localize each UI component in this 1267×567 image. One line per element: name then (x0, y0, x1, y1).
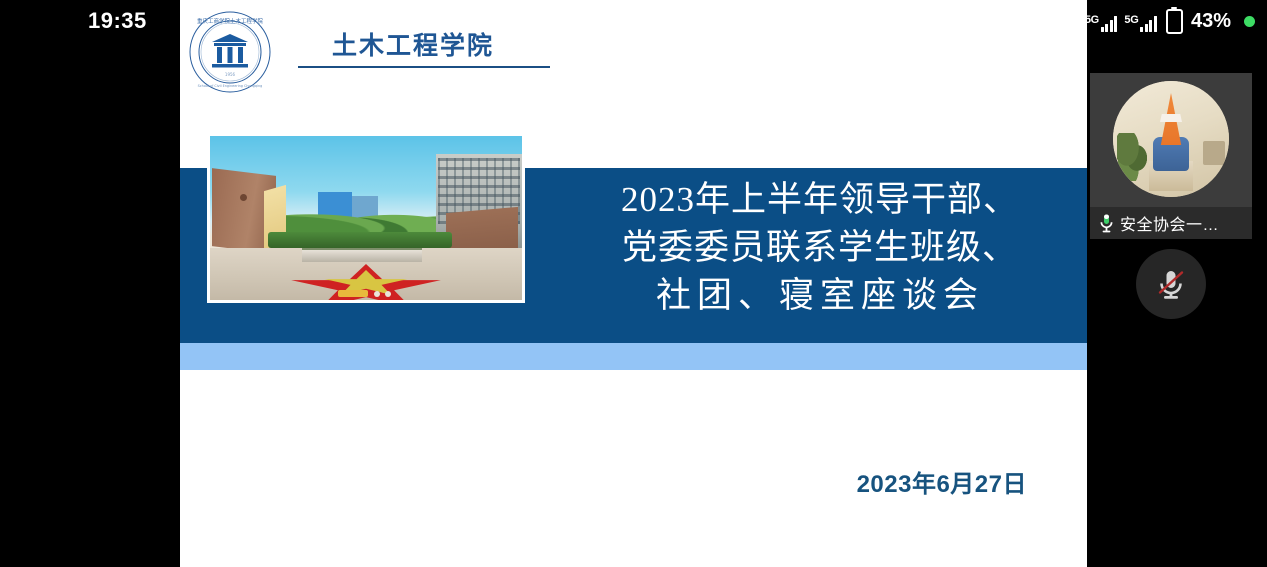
status-clock: 19:35 (88, 8, 147, 34)
slide-banner-accent-bar (180, 343, 1087, 370)
signal-bars-2 (1140, 15, 1157, 32)
battery-percent-label: 43% (1191, 10, 1231, 32)
slide-title-line-1: 2023年上半年领导干部、 (570, 176, 1070, 224)
participant-name-bar: 安全协会一… (1090, 207, 1252, 239)
mute-microphone-button[interactable] (1136, 249, 1206, 319)
participant-video-area (1090, 73, 1252, 207)
university-emblem-logo: 重庆工商学院土木工程学院 School of Civil Engineering… (188, 10, 272, 94)
participant-video-tile[interactable]: 安全协会一… (1090, 73, 1252, 239)
logo-year-text: 1956 (225, 72, 236, 77)
school-name-heading: 土木工程学院 (332, 26, 494, 62)
slide-title: 2023年上半年领导干部、 党委委员联系学生班级、 社团、寝室座谈会 (570, 176, 1070, 320)
participant-name-label: 安全协会一… (1120, 211, 1219, 235)
battery-icon (1166, 9, 1183, 34)
microphone-active-icon (1099, 213, 1114, 234)
network-type-label-2: 5G (1124, 15, 1138, 26)
participant-avatar (1113, 81, 1229, 197)
shared-presentation-slide[interactable]: 重庆工商学院土木工程学院 School of Civil Engineering… (180, 0, 1087, 567)
signal-bars-1 (1101, 15, 1118, 32)
slide-date: 2023年6月27日 (180, 464, 1027, 499)
svg-text:重庆工商学院土木工程学院: 重庆工商学院土木工程学院 (197, 17, 264, 25)
status-indicators: ⇅ 5G 5G 43% (1061, 6, 1255, 36)
campus-plaza-photo (207, 133, 525, 303)
slide-title-line-3: 社团、寝室座谈会 (570, 272, 1070, 320)
header-divider-line (298, 66, 550, 68)
svg-text:School of Civil Engineering Ch: School of Civil Engineering Chongqing (198, 84, 263, 88)
signal-5g-secondary-icon: 5G (1124, 10, 1157, 32)
privacy-indicator-dot (1244, 16, 1255, 27)
slide-header: 重庆工商学院土木工程学院 School of Civil Engineering… (180, 0, 1087, 105)
microphone-muted-icon (1151, 264, 1191, 304)
meeting-screen-share-view: 重庆工商学院土木工程学院 School of Civil Engineering… (0, 0, 1267, 567)
slide-title-line-2: 党委委员联系学生班级、 (570, 224, 1070, 272)
